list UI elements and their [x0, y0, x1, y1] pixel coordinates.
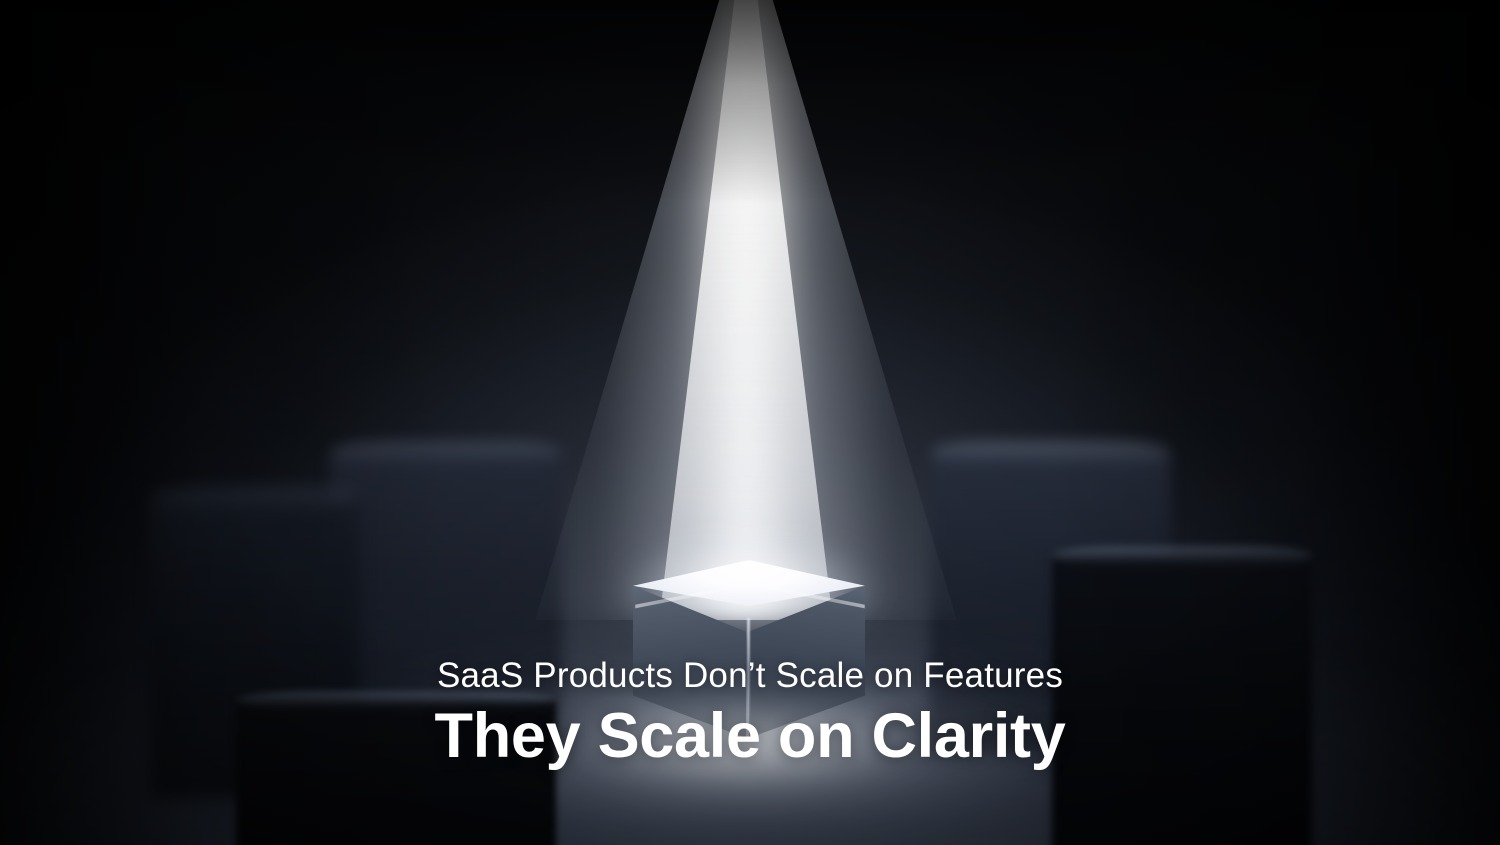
headline-title: They Scale on Clarity	[0, 701, 1500, 772]
headline-subtitle: SaaS Products Don’t Scale on Features	[0, 655, 1500, 698]
cube-top-right-edge-highlight	[749, 582, 865, 612]
hero-scene: SaaS Products Don’t Scale on Features Th…	[0, 0, 1500, 845]
beam-cone-core	[436, 0, 1056, 620]
pedestal-top-face	[150, 487, 360, 509]
cube-top-face	[633, 560, 865, 606]
overhead-spotlight-beam	[436, 0, 1056, 620]
beam-cone-outer	[436, 0, 1056, 620]
cube-top-left-edge-highlight	[635, 582, 751, 612]
pedestal-top-face	[330, 441, 562, 463]
headline-block: SaaS Products Don’t Scale on Features Th…	[0, 655, 1500, 771]
cube-top-glow	[583, 518, 915, 658]
pedestal-top-face	[930, 441, 1170, 463]
pedestal-top-face	[1052, 546, 1312, 566]
